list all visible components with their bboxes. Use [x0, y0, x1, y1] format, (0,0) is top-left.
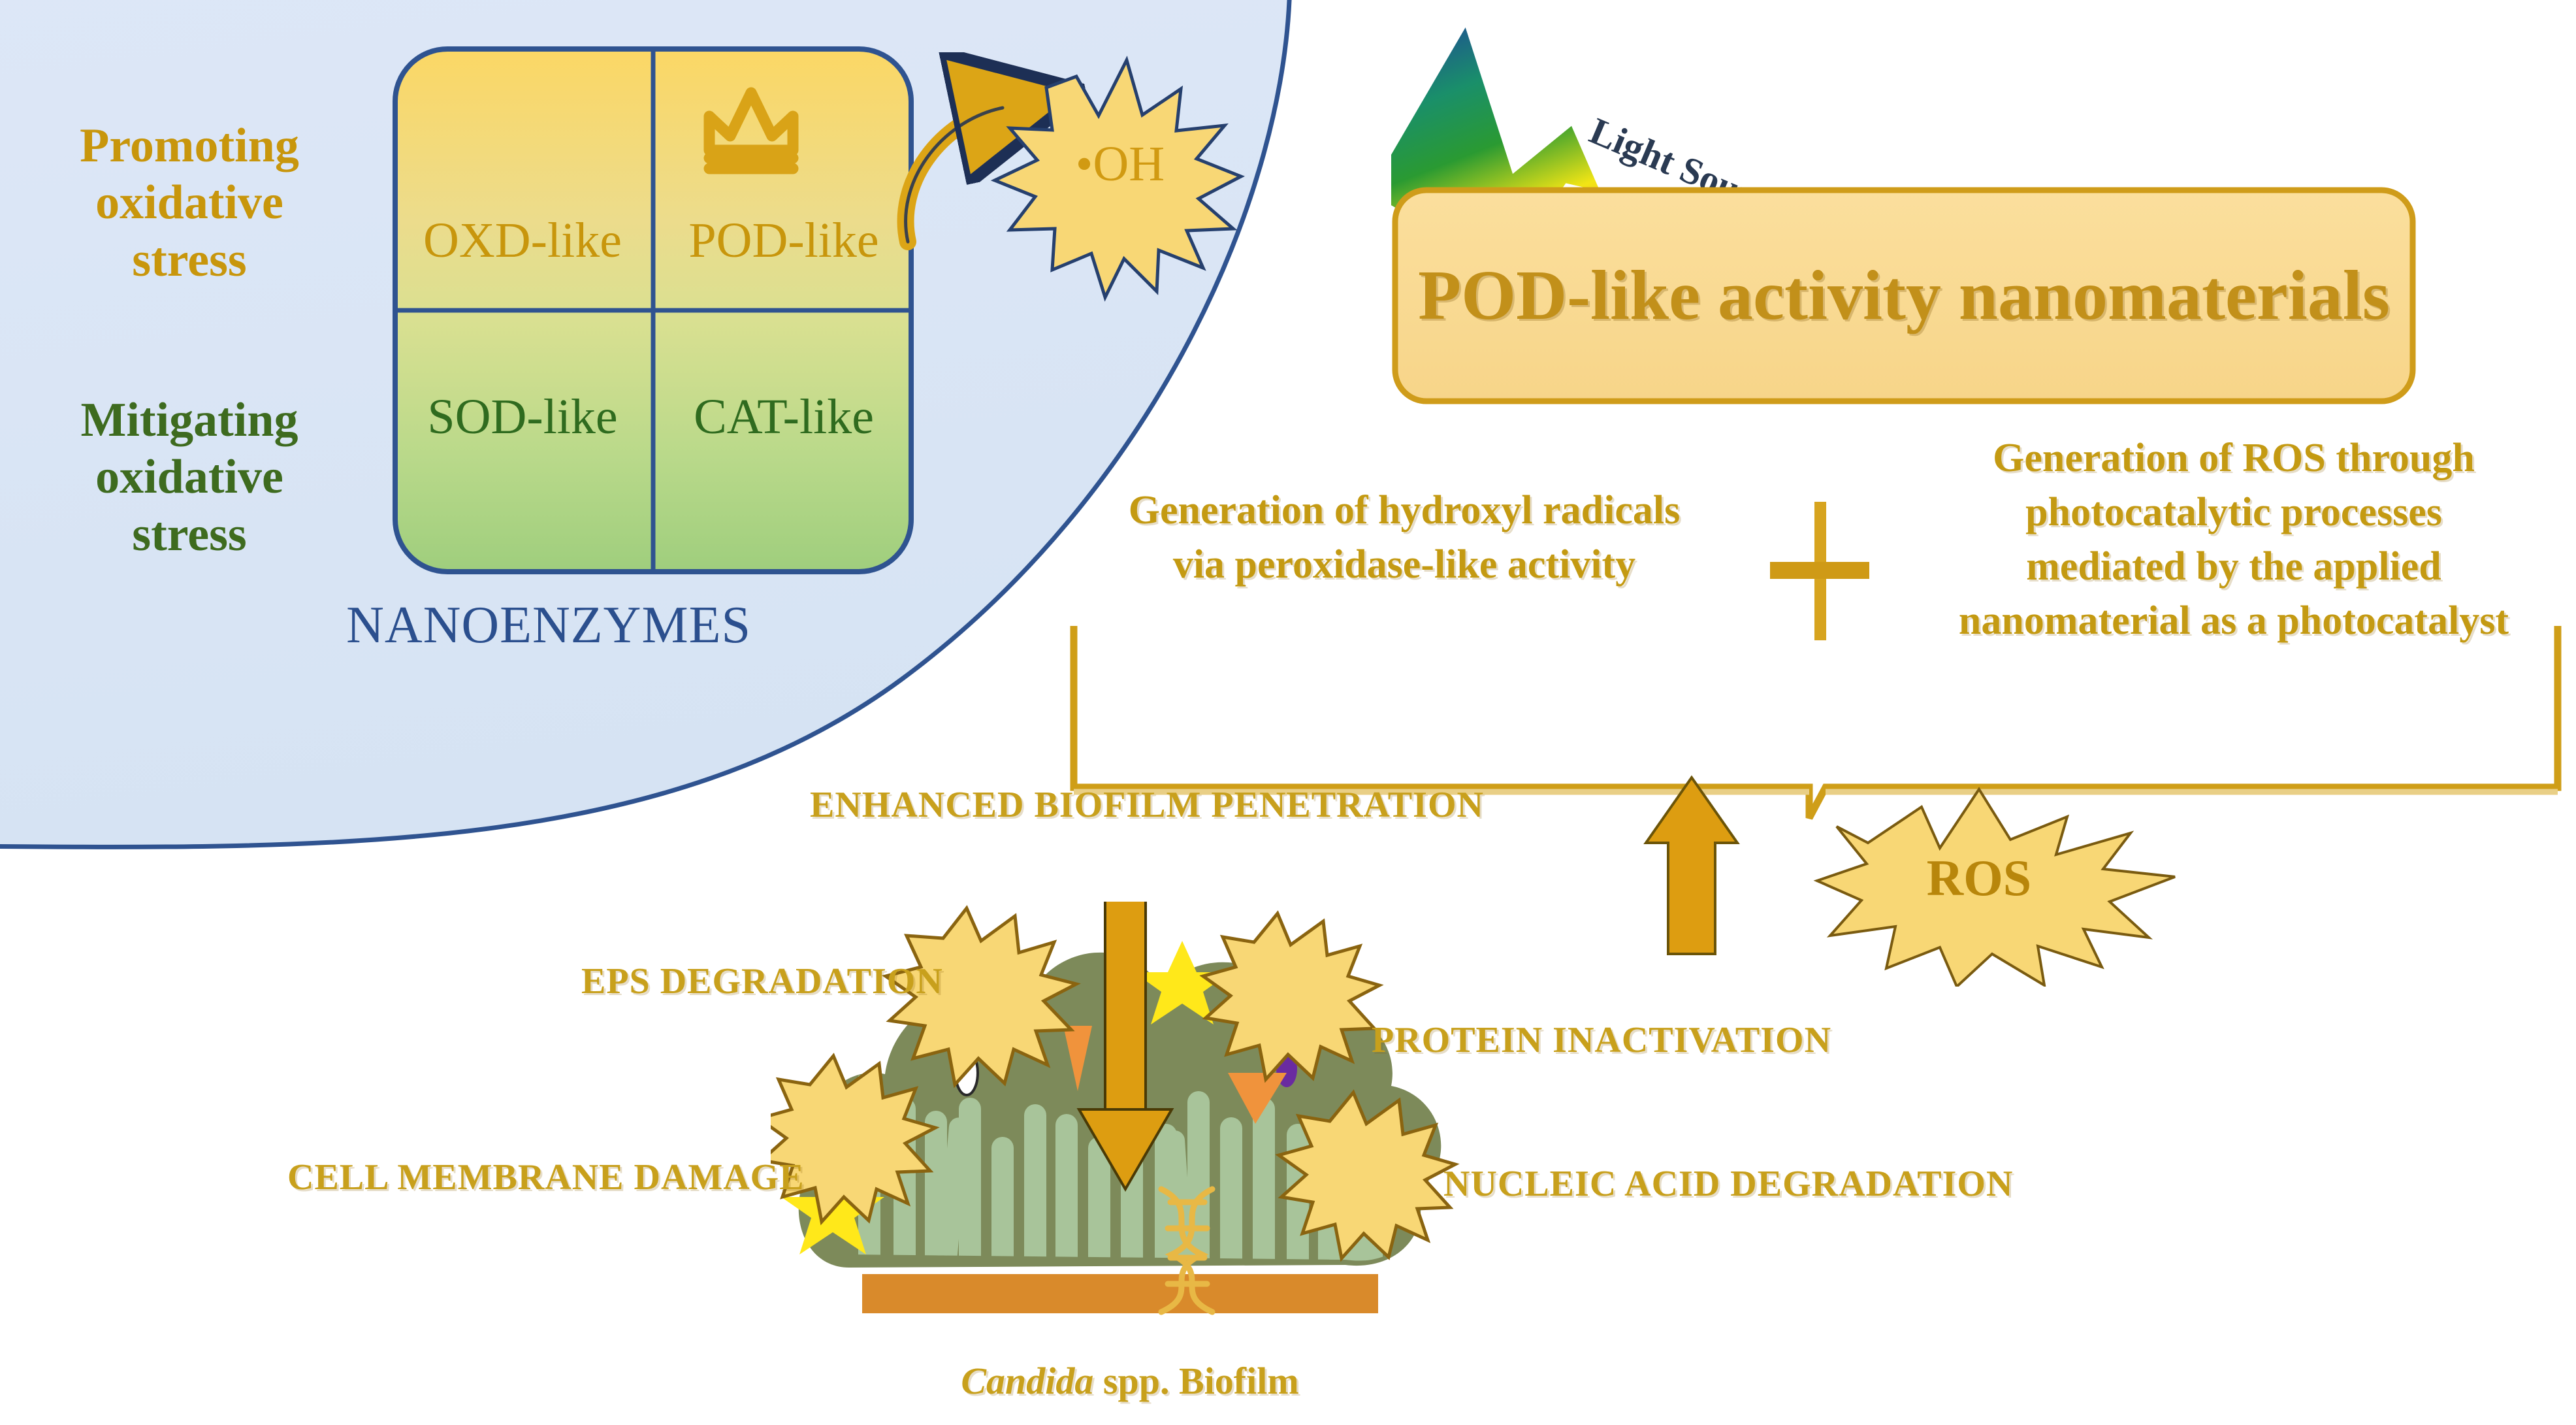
- pod-box-label: POD-like activity nanomaterials: [1391, 186, 2417, 405]
- hydroxyl-radical-starburst: •OH: [995, 60, 1241, 297]
- label-eps-degradation: EPS DEGRADATION: [581, 960, 943, 1002]
- label-protein-inactivation: PROTEIN INACTIVATION: [1372, 1019, 1831, 1061]
- caption-candida-biofilm: Candida spp. Biofilm: [771, 1359, 1489, 1403]
- mechanism-text-left: Generation of hydroxyl radicals via pero…: [1084, 483, 1724, 592]
- nanoenzyme-quadrant-panel: OXD-like POD-like SOD-like CAT-like: [392, 46, 914, 575]
- label-nucleic-acid-degradation: NUCLEIC ACID DEGRADATION: [1443, 1163, 2013, 1205]
- label-promoting-oxidative-stress: Promoting oxidative stress: [26, 118, 353, 289]
- ros-label: ROS: [1927, 849, 2031, 906]
- label-mitigating-oxidative-stress: Mitigating oxidative stress: [26, 392, 353, 563]
- oh-radical-label: •OH: [1076, 137, 1165, 191]
- quadrant-panel-shape: [392, 46, 914, 575]
- quadrant-label-cat: CAT-like: [653, 389, 914, 446]
- caption-suffix: spp. Biofilm: [1093, 1360, 1298, 1402]
- label-enhanced-biofilm-penetration: ENHANCED BIOFILM PENETRATION: [810, 784, 1484, 826]
- caption-genus: Candida: [961, 1360, 1093, 1402]
- label-cell-membrane-damage: CELL MEMBRANE DAMAGE: [287, 1156, 805, 1198]
- quadrant-label-oxd: OXD-like: [392, 212, 653, 269]
- pod-nanomaterials-box[interactable]: POD-like activity nanomaterials: [1391, 186, 2417, 405]
- peroxidase-reaction-group: •OH: [869, 52, 1391, 366]
- curved-arrow-icon: [906, 108, 1003, 242]
- biofilm-substrate: [862, 1274, 1378, 1313]
- ros-group: ROS: [1587, 738, 2208, 987]
- up-arrow-icon: [1646, 778, 1737, 954]
- caption-nanoenzymes: NANOENZYMES: [255, 595, 843, 656]
- quadrant-label-sod: SOD-like: [392, 389, 653, 446]
- figure-canvas: OXD-like POD-like SOD-like CAT-like Prom…: [0, 0, 2576, 1425]
- ros-starburst: ROS: [1817, 789, 2175, 987]
